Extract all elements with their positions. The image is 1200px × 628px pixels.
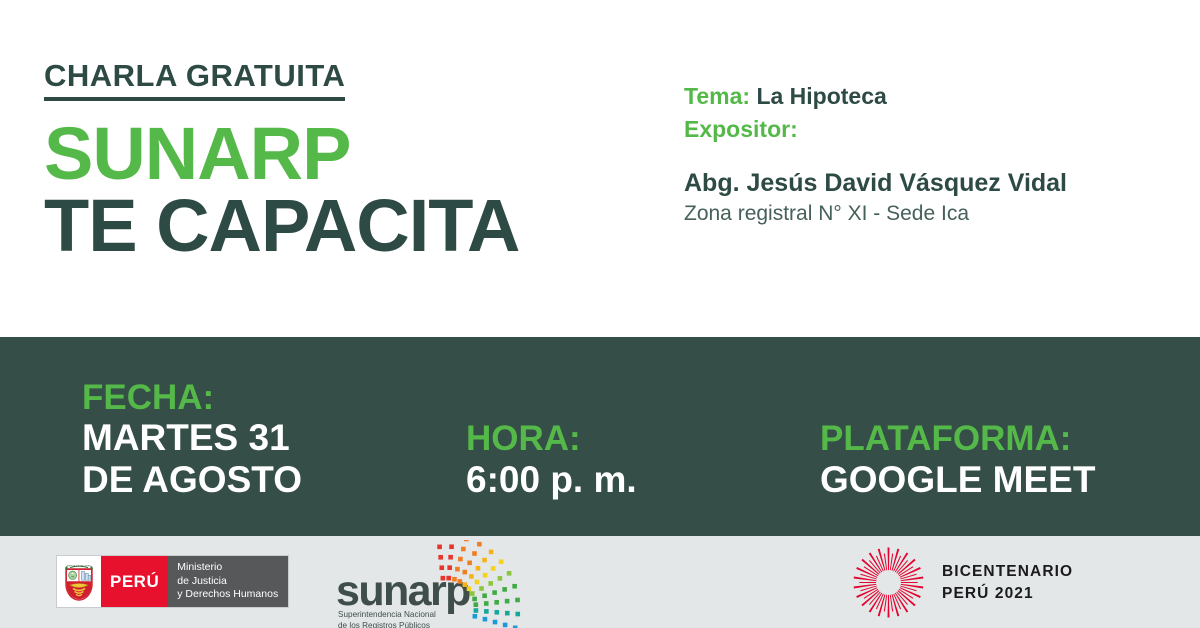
- sunarp-logo: sunarp Superintendencia Nacional de los …: [330, 542, 530, 624]
- fecha-label: FECHA:: [82, 378, 302, 417]
- ministerio-line-2: de Justicia: [177, 575, 278, 588]
- plataforma-value: GOOGLE MEET: [820, 459, 1095, 500]
- sunarp-tagline: Superintendencia Nacional de los Registr…: [338, 610, 436, 628]
- plataforma-label: PLATAFORMA:: [820, 419, 1095, 458]
- peru-coat-of-arms-icon: REPUBLICA DEL PERU: [57, 556, 101, 607]
- bicentenario-line-2: Perú 2021: [942, 583, 1073, 604]
- brand-title-primary: SUNARP: [44, 119, 664, 189]
- detail-hora: HORA: 6:00 p. m.: [466, 419, 637, 500]
- bicentenario-logo: Bicentenario Perú 2021: [852, 546, 1073, 619]
- bicentenario-burst-icon: [852, 546, 925, 619]
- tema-label: Tema:: [684, 83, 750, 109]
- expositor-label: Expositor:: [684, 116, 798, 142]
- poster-canvas: CHARLA GRATUITA SUNARP TE CAPACITA Tema:…: [0, 0, 1200, 628]
- fecha-value-line1: MARTES 31: [82, 417, 302, 458]
- footer-logo-bar: REPUBLICA DEL PERU PERÚ Ministerio de Ju…: [0, 536, 1200, 628]
- detail-plataforma: PLATAFORMA: GOOGLE MEET: [820, 419, 1095, 500]
- peru-label: PERÚ: [101, 556, 168, 607]
- speaker-name: Abg. Jesús David Vásquez Vidal: [684, 168, 1164, 199]
- hora-value: 6:00 p. m.: [466, 459, 637, 500]
- bicentenario-text: Bicentenario Perú 2021: [942, 561, 1073, 604]
- header-section: CHARLA GRATUITA SUNARP TE CAPACITA Tema:…: [0, 0, 1200, 337]
- ministerio-line-3: y Derechos Humanos: [177, 588, 278, 601]
- speaker-block: Abg. Jesús David Vásquez Vidal Zona regi…: [684, 168, 1164, 228]
- sunarp-burst-icon: [430, 540, 535, 628]
- tema-row: Tema: La Hipoteca: [684, 80, 1154, 113]
- fecha-value-line2: DE AGOSTO: [82, 459, 302, 500]
- expositor-row: Expositor:: [684, 113, 1154, 146]
- detail-fecha: FECHA: MARTES 31 DE AGOSTO: [82, 378, 302, 500]
- bicentenario-line-1: Bicentenario: [942, 561, 1073, 582]
- brand-title-secondary: TE CAPACITA: [44, 191, 664, 261]
- ministerio-name: Ministerio de Justicia y Derechos Humano…: [168, 556, 288, 607]
- info-block: Tema: La Hipoteca Expositor:: [684, 80, 1154, 145]
- ministerio-justicia-logo: REPUBLICA DEL PERU PERÚ Ministerio de Ju…: [56, 555, 289, 608]
- event-details-band: FECHA: MARTES 31 DE AGOSTO HORA: 6:00 p.…: [0, 337, 1200, 536]
- speaker-organization: Zona registral N° XI - Sede Ica: [684, 200, 1164, 227]
- svg-text:REPUBLICA DEL PERU: REPUBLICA DEL PERU: [67, 564, 91, 567]
- tema-value: La Hipoteca: [756, 83, 886, 109]
- hora-label: HORA:: [466, 419, 637, 458]
- ministerio-line-1: Ministerio: [177, 561, 278, 574]
- sunarp-tagline-line-2: de los Registros Públicos: [338, 621, 436, 628]
- title-block: CHARLA GRATUITA SUNARP TE CAPACITA: [44, 60, 664, 261]
- sunarp-tagline-line-1: Superintendencia Nacional: [338, 610, 436, 621]
- eyebrow-label: CHARLA GRATUITA: [44, 60, 345, 101]
